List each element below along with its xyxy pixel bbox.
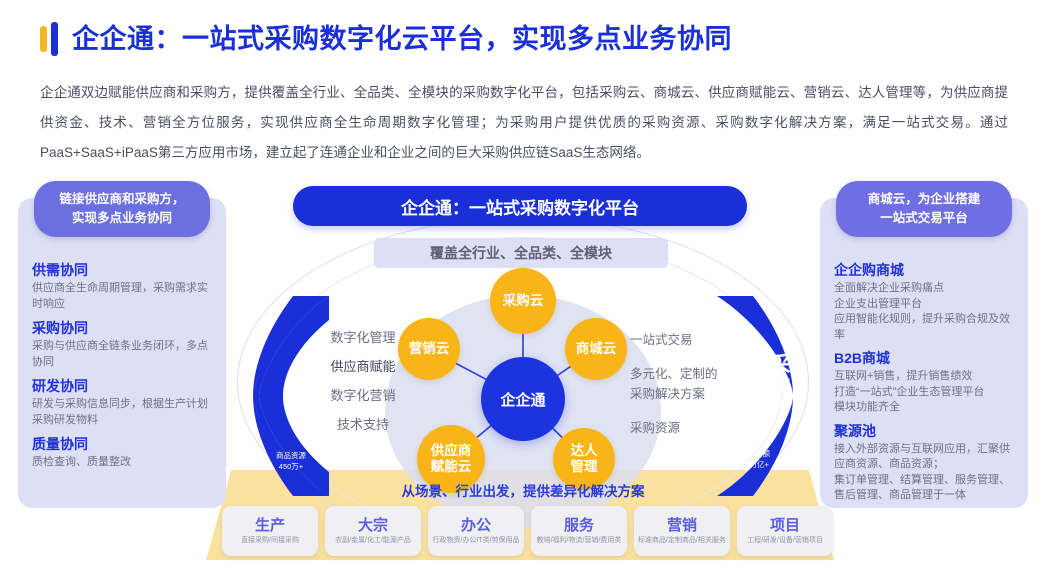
- card-0-title: 生产: [255, 516, 285, 535]
- node-yingxiao-yun[interactable]: 营销云: [398, 318, 460, 380]
- card-3-sub: 教培/福利/物流/营销/费用类: [537, 536, 622, 546]
- card-5-title: 项目: [770, 516, 800, 535]
- card-1-title: 大宗: [358, 516, 388, 535]
- category-card-shengchan[interactable]: 生产 直接采购/间接采购: [222, 506, 318, 556]
- category-card-list: 生产 直接采购/间接采购 大宗 农副/金属/化工/能源产品 办公 行政物资/办公…: [222, 506, 833, 556]
- card-1-sub: 农副/金属/化工/能源产品: [335, 536, 411, 546]
- page-title-text: 企企通：一站式采购数字化云平台，实现多点业务协同: [72, 22, 732, 56]
- node-center-qiqitong[interactable]: 企企通: [481, 357, 565, 441]
- category-card-yingxiao[interactable]: 营销 标准商品/定制商品/相关服务: [634, 506, 730, 556]
- card-3-title: 服务: [564, 516, 594, 535]
- accent-bar-blue-icon: [51, 22, 58, 56]
- diagram-tagline: 从场景、行业出发，提供差异化解决方案: [0, 480, 1046, 500]
- intro-paragraph: 企企通双边赋能供应商和采购方，提供覆盖全行业、全品类、全模块的采购数字化平台，包…: [40, 78, 1008, 168]
- category-card-dazong[interactable]: 大宗 农副/金属/化工/能源产品: [325, 506, 421, 556]
- node-shangcheng-yun[interactable]: 商城云: [565, 318, 627, 380]
- diagram-figure: 链接供应商和采购方， 实现多点业务协同 供需协同 供应商全生命周期管理，采购需求…: [0, 175, 1046, 577]
- node-caigou-yun[interactable]: 采购云: [490, 268, 556, 334]
- card-2-sub: 行政物资/办公IT类/劳保用品: [432, 536, 519, 546]
- category-card-bangong[interactable]: 办公 行政物资/办公IT类/劳保用品: [428, 506, 524, 556]
- header: 企企通：一站式采购数字化云平台，实现多点业务协同 企企通双边赋能供应商和采购方，…: [0, 0, 1046, 175]
- infographic-page: 企企通：一站式采购数字化云平台，实现多点业务协同 企企通双边赋能供应商和采购方，…: [0, 0, 1046, 577]
- card-0-sub: 直接采购/间接采购: [241, 536, 299, 546]
- accent-bar-yellow-icon: [40, 26, 47, 52]
- card-4-title: 营销: [667, 516, 697, 535]
- category-card-xiangmu[interactable]: 项目 工程/研发/设备/营销项目: [737, 506, 833, 556]
- category-card-fuwu[interactable]: 服务 教培/福利/物流/营销/费用类: [531, 506, 627, 556]
- card-2-title: 办公: [461, 516, 491, 535]
- card-5-sub: 工程/研发/设备/营销项目: [747, 536, 823, 546]
- card-4-sub: 标准商品/定制商品/相关服务: [638, 536, 726, 546]
- page-title: 企企通：一站式采购数字化云平台，实现多点业务协同: [40, 22, 732, 56]
